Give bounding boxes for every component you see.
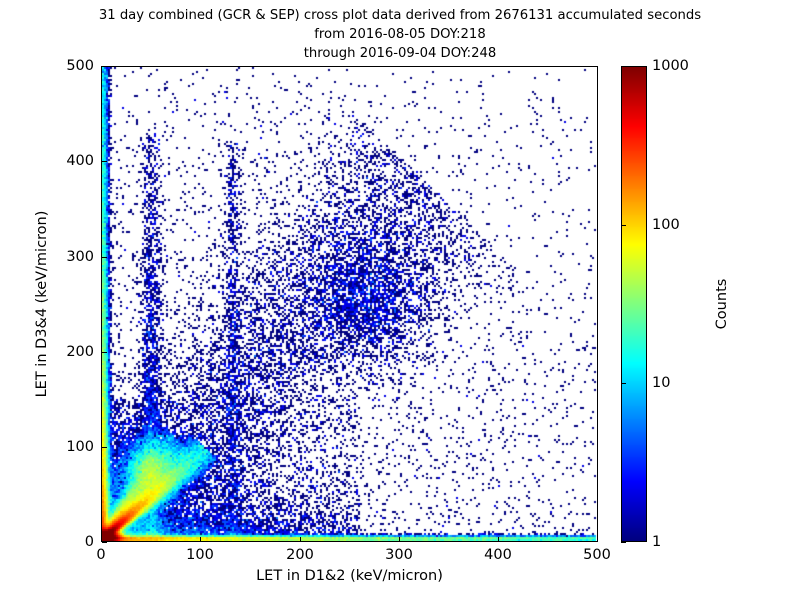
x-tick-100 <box>200 537 201 542</box>
y-tick-0 <box>102 542 107 543</box>
x-tick-500 <box>597 537 598 542</box>
x-tick-400 <box>498 537 499 542</box>
colorbar-ticklabel-100: 100 <box>652 217 680 233</box>
title-line-2: from 2016-08-05 DOY:218 <box>0 25 800 44</box>
y-axis-label: LET in D3&4 (keV/micron) <box>34 211 50 398</box>
x-ticklabel-500: 500 <box>583 547 611 563</box>
colorbar-label: Counts <box>714 279 730 330</box>
y-ticklabel-200: 200 <box>66 344 94 360</box>
colorbar-tick-10 <box>621 383 626 384</box>
x-axis-label: LET in D1&2 (keV/micron) <box>101 568 598 584</box>
y-tick-300 <box>102 257 107 258</box>
y-ticklabel-400: 400 <box>66 153 94 169</box>
y-ticklabel-100: 100 <box>66 439 94 455</box>
colorbar <box>621 66 647 542</box>
y-tick-100 <box>102 447 107 448</box>
colorbar-gradient <box>622 67 646 541</box>
y-tick-400 <box>102 161 107 162</box>
colorbar-tick-1000 <box>621 66 626 67</box>
colorbar-ticklabel-10: 10 <box>652 375 670 391</box>
title-line-1: 31 day combined (GCR & SEP) cross plot d… <box>0 6 800 25</box>
density-scatter-plot <box>102 67 597 541</box>
y-tick-200 <box>102 352 107 353</box>
colorbar-tick-100 <box>621 225 626 226</box>
x-ticklabel-200: 200 <box>286 547 314 563</box>
x-tick-200 <box>300 537 301 542</box>
colorbar-ticklabel-1000: 1000 <box>652 58 689 74</box>
y-ticklabel-500: 500 <box>66 58 94 74</box>
x-ticklabel-0: 0 <box>96 547 105 563</box>
x-tick-300 <box>399 537 400 542</box>
chart-title: 31 day combined (GCR & SEP) cross plot d… <box>0 6 800 63</box>
x-ticklabel-100: 100 <box>186 547 214 563</box>
plot-area <box>101 66 598 542</box>
y-tick-500 <box>102 66 107 67</box>
colorbar-ticklabel-1: 1 <box>652 534 661 550</box>
figure-canvas: 31 day combined (GCR & SEP) cross plot d… <box>0 0 800 600</box>
y-ticklabel-300: 300 <box>66 249 94 265</box>
x-ticklabel-300: 300 <box>385 547 413 563</box>
y-ticklabel-0: 0 <box>85 534 94 550</box>
colorbar-tick-1 <box>621 542 626 543</box>
x-ticklabel-400: 400 <box>484 547 512 563</box>
